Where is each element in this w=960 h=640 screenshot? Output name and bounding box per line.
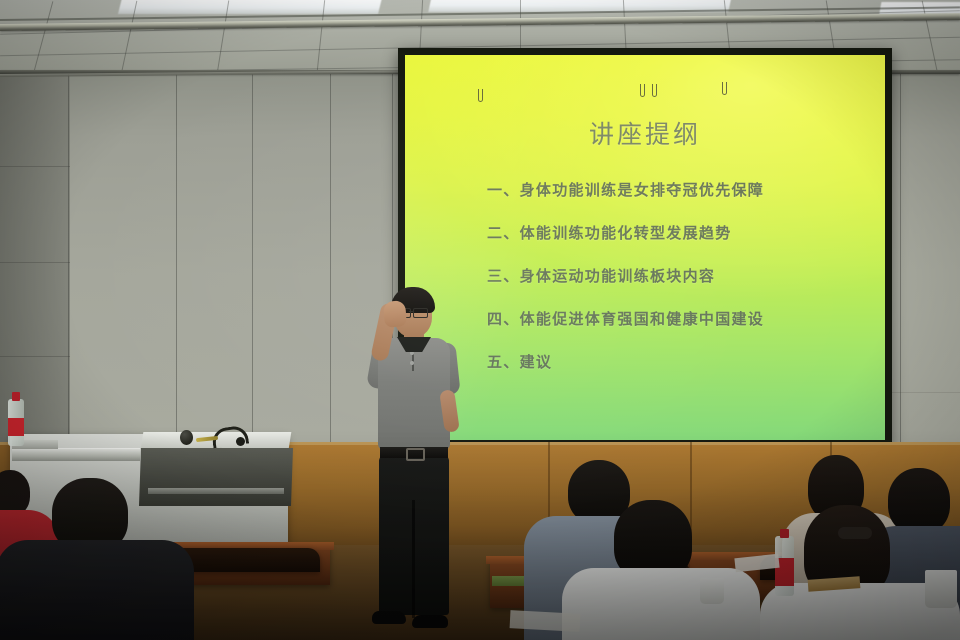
paper-cup[interactable] <box>700 578 724 604</box>
attendee-torso <box>562 568 760 640</box>
wall-panel-seam <box>0 262 70 263</box>
wall-panel-seam <box>900 70 901 442</box>
podium-recess <box>139 448 293 506</box>
curtain-hook <box>478 89 483 102</box>
paper-sheet[interactable] <box>510 610 581 632</box>
headset-earpad <box>236 437 245 446</box>
podium-water-bottle[interactable] <box>8 390 24 446</box>
back-wall-left-shadow <box>0 70 70 442</box>
wall-panel-seam <box>330 70 331 442</box>
bottle-cap <box>12 392 20 401</box>
slide-outline-item-1: 一、身体功能训练是女排夺冠优先保障 <box>487 179 859 200</box>
slide-outline-item-5: 五、建议 <box>487 351 859 372</box>
podium-shelf <box>148 488 284 494</box>
ceiling-light-panel <box>118 0 382 14</box>
podium-keyboard-tray[interactable] <box>12 448 140 461</box>
ceiling-grid-line <box>32 1 54 74</box>
slide-outline-list: 一、身体功能训练是女排夺冠优先保障 二、体能训练功能化转型发展趋势 三、身体运动… <box>431 179 859 372</box>
lecture-hall-photo: 讲座提纲 一、身体功能训练是女排夺冠优先保障 二、体能训练功能化转型发展趋势 三… <box>0 0 960 640</box>
curtain-hook <box>652 84 657 97</box>
glasses-bridge <box>409 311 414 312</box>
wall-panel-seam <box>176 70 177 442</box>
projected-slide: 讲座提纲 一、身体功能训练是女排夺冠优先保障 二、体能训练功能化转型发展趋势 三… <box>405 55 885 440</box>
handheld-microphone-icon[interactable] <box>180 430 193 445</box>
presenter-hand <box>383 300 407 327</box>
wall-panel-seam <box>0 166 70 167</box>
slide-title: 讲座提纲 <box>431 115 859 151</box>
attendee-head <box>888 468 950 534</box>
wall-panel-seam <box>0 356 70 357</box>
presenter-shoe-left <box>372 611 406 624</box>
wall-panel-seam <box>68 70 69 442</box>
attendee-torso <box>0 540 194 640</box>
bottle-label <box>8 418 24 436</box>
curtain-hook <box>722 82 727 95</box>
presenter-shirt-button <box>410 361 414 365</box>
presenter-belt-buckle <box>406 448 425 461</box>
slide-outline-item-2: 二、体能训练功能化转型发展趋势 <box>487 222 859 243</box>
presenter-polo-shirt <box>378 338 450 450</box>
curtain-hook <box>640 84 645 97</box>
presenter <box>350 285 470 640</box>
hair-tie-icon <box>838 527 872 539</box>
glasses-icon <box>413 308 428 318</box>
slide-content: 讲座提纲 一、身体功能训练是女排夺冠优先保障 二、体能训练功能化转型发展趋势 三… <box>405 55 885 440</box>
slide-outline-item-3: 三、身体运动功能训练板块内容 <box>487 265 859 286</box>
wall-panel-seam <box>252 70 253 442</box>
slide-outline-item-4: 四、体能促进体育强国和健康中国建设 <box>487 308 859 329</box>
drinking-jar[interactable] <box>925 570 957 608</box>
presenter-shoe-right <box>412 615 448 628</box>
presenter-leg-seam <box>412 500 415 618</box>
projection-screen: 讲座提纲 一、身体功能训练是女排夺冠优先保障 二、体能训练功能化转型发展趋势 三… <box>398 48 892 447</box>
bottle-cap <box>780 529 789 538</box>
